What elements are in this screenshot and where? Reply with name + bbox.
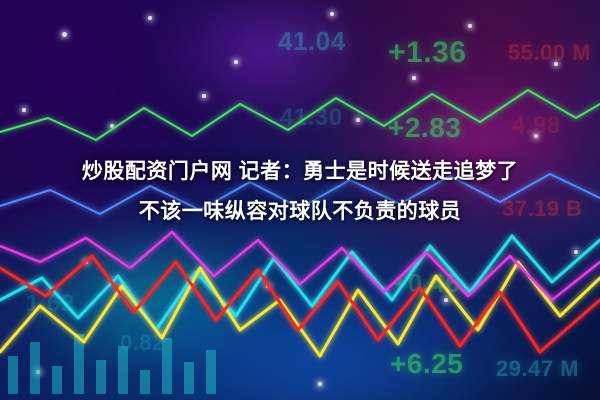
headline-line-2: 不该一味纵容对球队不负责的球员 (0, 192, 600, 232)
volume-bar (74, 334, 84, 394)
volume-bars (8, 334, 216, 394)
line-green-top (0, 90, 600, 140)
volume-bar (30, 342, 40, 394)
volume-bar (8, 356, 18, 394)
volume-bar (184, 362, 194, 394)
image-canvas: +1.36+2.83+6.25+0.4641.0441.3055.00 M4.9… (0, 0, 600, 400)
volume-bar (206, 350, 216, 394)
volume-bar (140, 370, 150, 394)
volume-bar (52, 366, 62, 394)
headline-line-1: 炒股配资门户网 记者：勇士是时候送走追梦了 (82, 160, 518, 183)
volume-bar (118, 346, 128, 394)
volume-bar (162, 338, 172, 394)
headline-text: 炒股配资门户网 记者：勇士是时候送走追梦了 不该一味纵容对球队不负责的球员 (0, 152, 600, 232)
volume-bar (96, 360, 106, 394)
